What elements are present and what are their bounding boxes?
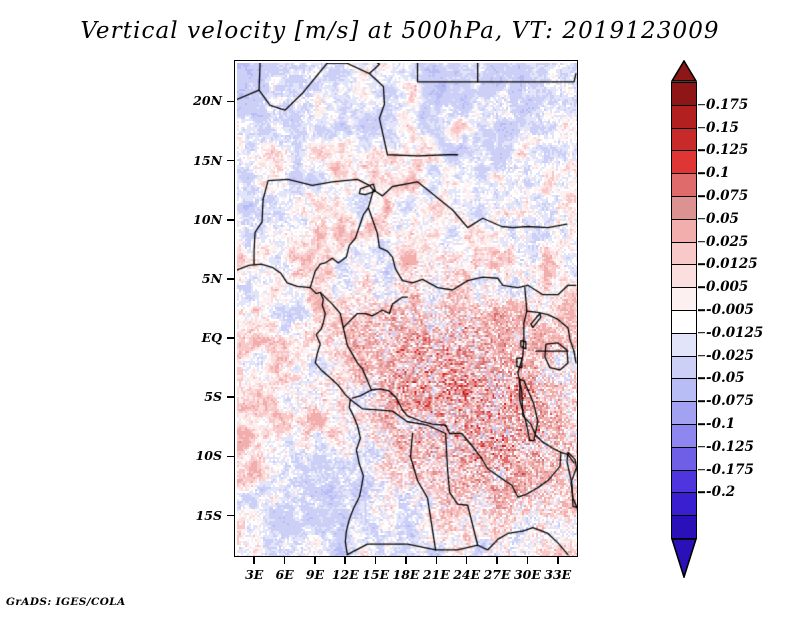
colorbar-segment [671, 173, 697, 197]
colorbar-tickmark [698, 492, 705, 494]
y-axis-tickmark [227, 515, 234, 517]
colorbar-label: 0.075 [706, 188, 748, 204]
grads-plot-page: Vertical velocity [m/s] at 500hPa, VT: 2… [0, 0, 800, 618]
colorbar-tickmark [698, 446, 705, 448]
colorbar-segment [671, 333, 697, 357]
colorbar-segment [671, 82, 697, 106]
attribution-text: GrADS: IGES/COLA [6, 596, 126, 608]
colorbar-tickmark [698, 332, 705, 334]
colorbar-segment [671, 447, 697, 471]
colorbar-segment [671, 470, 697, 494]
x-axis-tickmark [436, 557, 438, 564]
colorbar-tickmark [698, 150, 705, 152]
colorbar-tickmark [698, 355, 705, 357]
colorbar-label: 0.125 [706, 142, 748, 158]
colorbar-segment [671, 196, 697, 220]
x-axis-tickmark [527, 557, 529, 564]
colorbar-label: -0.075 [706, 393, 754, 409]
colorbar-tickmark [698, 195, 705, 197]
colorbar-tickmark [698, 127, 705, 129]
map-plot-area [234, 60, 578, 557]
colorbar [671, 60, 697, 560]
page-title: Vertical velocity [m/s] at 500hPa, VT: 2… [0, 18, 800, 44]
colorbar-tickmark [698, 469, 705, 471]
y-axis-label: 5S [164, 389, 222, 404]
colorbar-label: 0.0125 [706, 256, 758, 272]
x-axis-tickmark [496, 557, 498, 564]
colorbar-label: 0.175 [706, 97, 748, 113]
colorbar-label: -0.025 [706, 348, 754, 364]
y-axis-tickmark [227, 396, 234, 398]
colorbar-label: 0.1 [706, 165, 730, 181]
y-axis-label: 10N [164, 212, 222, 227]
colorbar-label: -0.05 [706, 370, 744, 386]
colorbar-segment [671, 128, 697, 152]
colorbar-segment [671, 401, 697, 425]
colorbar-segment [671, 515, 697, 539]
y-axis-tickmark [227, 101, 234, 103]
colorbar-tickmark [698, 378, 705, 380]
x-axis-label: 33E [533, 567, 583, 582]
colorbar-tickmark [698, 264, 705, 266]
colorbar-tickmark [698, 423, 705, 425]
colorbar-label: -0.005 [706, 302, 754, 318]
y-axis-label: 20N [164, 93, 222, 108]
colorbar-segment [671, 105, 697, 129]
colorbar-segment [671, 310, 697, 334]
y-axis-label: 15N [164, 153, 222, 168]
y-axis-label: EQ [164, 330, 222, 345]
colorbar-segment [671, 424, 697, 448]
colorbar-label: 0.05 [706, 211, 739, 227]
y-axis-tickmark [227, 219, 234, 221]
colorbar-label: 0.025 [706, 234, 748, 250]
colorbar-segment [671, 264, 697, 288]
colorbar-tickmark [698, 241, 705, 243]
colorbar-label: -0.0125 [706, 325, 763, 341]
colorbar-label: 0.005 [706, 279, 748, 295]
colorbar-label: -0.175 [706, 462, 754, 478]
x-axis-tickmark [284, 557, 286, 564]
colorbar-tickmark [698, 172, 705, 174]
colorbar-label: -0.1 [706, 416, 735, 432]
y-axis-tickmark [227, 160, 234, 162]
country-borders-overlay [237, 63, 578, 557]
x-axis-tickmark [253, 557, 255, 564]
colorbar-tickmark [698, 309, 705, 311]
colorbar-label: -0.2 [706, 484, 735, 500]
colorbar-label: -0.125 [706, 439, 754, 455]
colorbar-segment [671, 492, 697, 516]
colorbar-tickmark [698, 218, 705, 220]
colorbar-segment [671, 378, 697, 402]
x-axis-tickmark [314, 557, 316, 564]
y-axis-label: 10S [164, 448, 222, 463]
colorbar-segment [671, 356, 697, 380]
y-axis-tickmark [227, 456, 234, 458]
colorbar-label: 0.15 [706, 120, 739, 136]
colorbar-segment [671, 242, 697, 266]
colorbar-segment [671, 219, 697, 243]
colorbar-segment [671, 287, 697, 311]
colorbar-tickmark [698, 104, 705, 106]
colorbar-segment [671, 150, 697, 174]
x-axis-tickmark [557, 557, 559, 564]
x-axis-tickmark [344, 557, 346, 564]
y-axis-tickmark [227, 337, 234, 339]
colorbar-tickmark [698, 400, 705, 402]
colorbar-arrow-bottom [671, 538, 697, 578]
y-axis-tickmark [227, 278, 234, 280]
x-axis-tickmark [466, 557, 468, 564]
colorbar-tickmark [698, 286, 705, 288]
x-axis-tickmark [405, 557, 407, 564]
y-axis-label: 15S [164, 508, 222, 523]
colorbar-arrow-top [671, 60, 697, 82]
y-axis-label: 5N [164, 271, 222, 286]
x-axis-tickmark [375, 557, 377, 564]
